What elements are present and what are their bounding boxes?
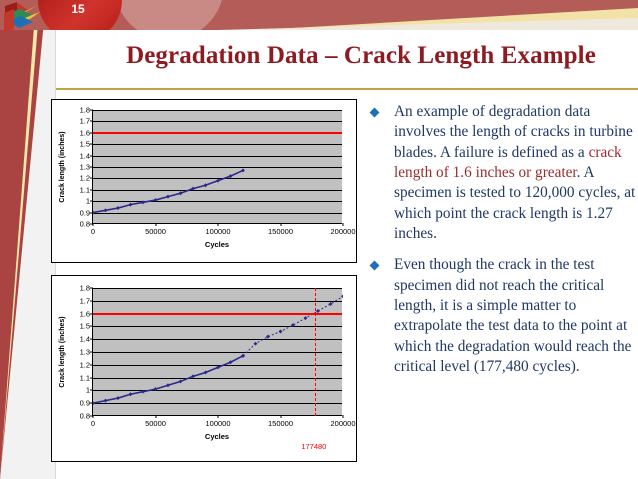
series-marker	[279, 330, 283, 334]
critical-crack-length-line	[93, 132, 342, 134]
x-tick-label: 0	[91, 227, 95, 236]
banner-gray-wedge	[218, 18, 638, 30]
y-tick-label: 1	[86, 197, 90, 206]
series-line	[93, 356, 243, 403]
y-tick-label: 1.5	[80, 140, 90, 149]
diamond-bullet-icon	[370, 108, 380, 118]
slide-canvas: 15 Degradation Data – Crack Length Examp…	[0, 0, 638, 479]
y-tick-label: 0.8	[80, 412, 90, 421]
chart-extrapolated-plot-area: 0.80.911.11.21.31.41.51.61.71.8050000100…	[92, 288, 342, 416]
y-tick-label: 1.1	[80, 185, 90, 194]
y-tick-label: 0.8	[80, 220, 90, 229]
banner-light-circle	[114, 0, 224, 30]
chart-extrapolated-inner: 0.80.911.11.21.31.41.51.61.71.8050000100…	[52, 276, 356, 461]
x-tick-label: 200000	[330, 227, 355, 236]
diamond-bullet-icon	[370, 261, 380, 271]
series-marker	[93, 401, 95, 405]
chart-extrapolated-y-axis-title-wrap: Crack length (inches)	[58, 288, 72, 416]
chart-observed-plot-area: 0.80.911.11.21.31.41.51.61.71.8050000100…	[92, 110, 342, 224]
left-band-red-wedge-inner	[0, 0, 36, 479]
bullet-text: Even though the crack in the test specim…	[394, 256, 631, 375]
chart-observed-y-axis-title-wrap: Crack length (inches)	[58, 110, 72, 224]
chart-observed: 0.80.911.11.21.31.41.51.61.71.8050000100…	[51, 99, 357, 263]
y-tick-label: 0.9	[80, 399, 90, 408]
chart-observed-y-axis-title: Crack length (inches)	[59, 131, 66, 202]
x-tick-label: 100000	[205, 419, 230, 428]
y-tick-label: 1.4	[80, 151, 90, 160]
bullet-list: An example of degradation data involves …	[368, 102, 636, 388]
y-tick-label: 1.5	[80, 322, 90, 331]
x-tick-label: 150000	[268, 419, 293, 428]
book-fan-logo-icon	[2, 1, 42, 35]
bullet-item: Even though the crack in the test specim…	[368, 255, 636, 377]
chart-extrapolated: 0.80.911.11.21.31.41.51.61.71.8050000100…	[51, 275, 357, 462]
series-marker	[266, 335, 270, 339]
critical-crack-length-line	[93, 313, 342, 315]
series-marker	[304, 316, 308, 320]
y-tick-label: 0.9	[80, 208, 90, 217]
y-tick-label: 1.6	[80, 128, 90, 137]
series-marker	[104, 399, 108, 403]
x-tick-label: 0	[91, 419, 95, 428]
chart-extrapolated-x-axis-title: Cycles	[52, 432, 382, 441]
series-marker	[104, 208, 108, 212]
series-marker	[191, 187, 195, 191]
series-marker	[166, 383, 170, 387]
left-decorative-band	[0, 0, 56, 479]
chart-observed-x-axis-title: Cycles	[52, 240, 382, 249]
series-marker	[341, 294, 343, 298]
series-marker	[116, 396, 120, 400]
series-marker	[141, 390, 145, 394]
y-tick-label: 1.2	[80, 174, 90, 183]
y-tick-label: 1.7	[80, 117, 90, 126]
series-marker	[179, 191, 183, 195]
x-tick-label: 50000	[145, 227, 166, 236]
y-tick-label: 1	[86, 386, 90, 395]
series-marker	[291, 323, 295, 327]
failure-cycles-label: 177480	[301, 442, 326, 451]
y-tick-label: 1.7	[80, 296, 90, 305]
series-marker	[129, 392, 133, 396]
y-tick-label: 1.6	[80, 309, 90, 318]
x-tick-label: 200000	[330, 419, 355, 428]
title-area: Degradation Data – Crack Length Example	[56, 30, 638, 90]
chart-extrapolated-y-axis-title: Crack length (inches)	[59, 316, 66, 387]
y-tick-label: 1.1	[80, 373, 90, 382]
x-tick-label: 50000	[145, 419, 166, 428]
y-tick-label: 1.8	[80, 106, 90, 115]
series-marker	[116, 206, 120, 210]
y-tick-label: 1.8	[80, 284, 90, 293]
series-marker	[154, 198, 158, 202]
y-tick-label: 1.3	[80, 163, 90, 172]
series-marker	[129, 203, 133, 207]
series-line	[93, 170, 243, 212]
x-tick-label: 100000	[205, 227, 230, 236]
series-marker	[93, 211, 95, 215]
series-marker	[154, 387, 158, 391]
series-marker	[254, 342, 258, 346]
series-marker	[204, 183, 208, 187]
bullet-item: An example of degradation data involves …	[368, 102, 636, 244]
series-marker	[216, 179, 220, 183]
series-marker	[141, 200, 145, 204]
x-tick-label: 150000	[268, 227, 293, 236]
y-tick-label: 1.3	[80, 348, 90, 357]
chart-observed-series-layer	[93, 110, 343, 224]
y-tick-label: 1.4	[80, 335, 90, 344]
failure-cycles-line	[315, 288, 316, 416]
page-title: Degradation Data – Crack Length Example	[88, 42, 634, 70]
y-tick-label: 1.2	[80, 360, 90, 369]
chart-extrapolated-series-layer	[93, 288, 343, 416]
slide-number: 15	[60, 2, 96, 16]
chart-observed-inner: 0.80.911.11.21.31.41.51.61.71.8050000100…	[52, 100, 356, 262]
series-marker	[166, 195, 170, 199]
